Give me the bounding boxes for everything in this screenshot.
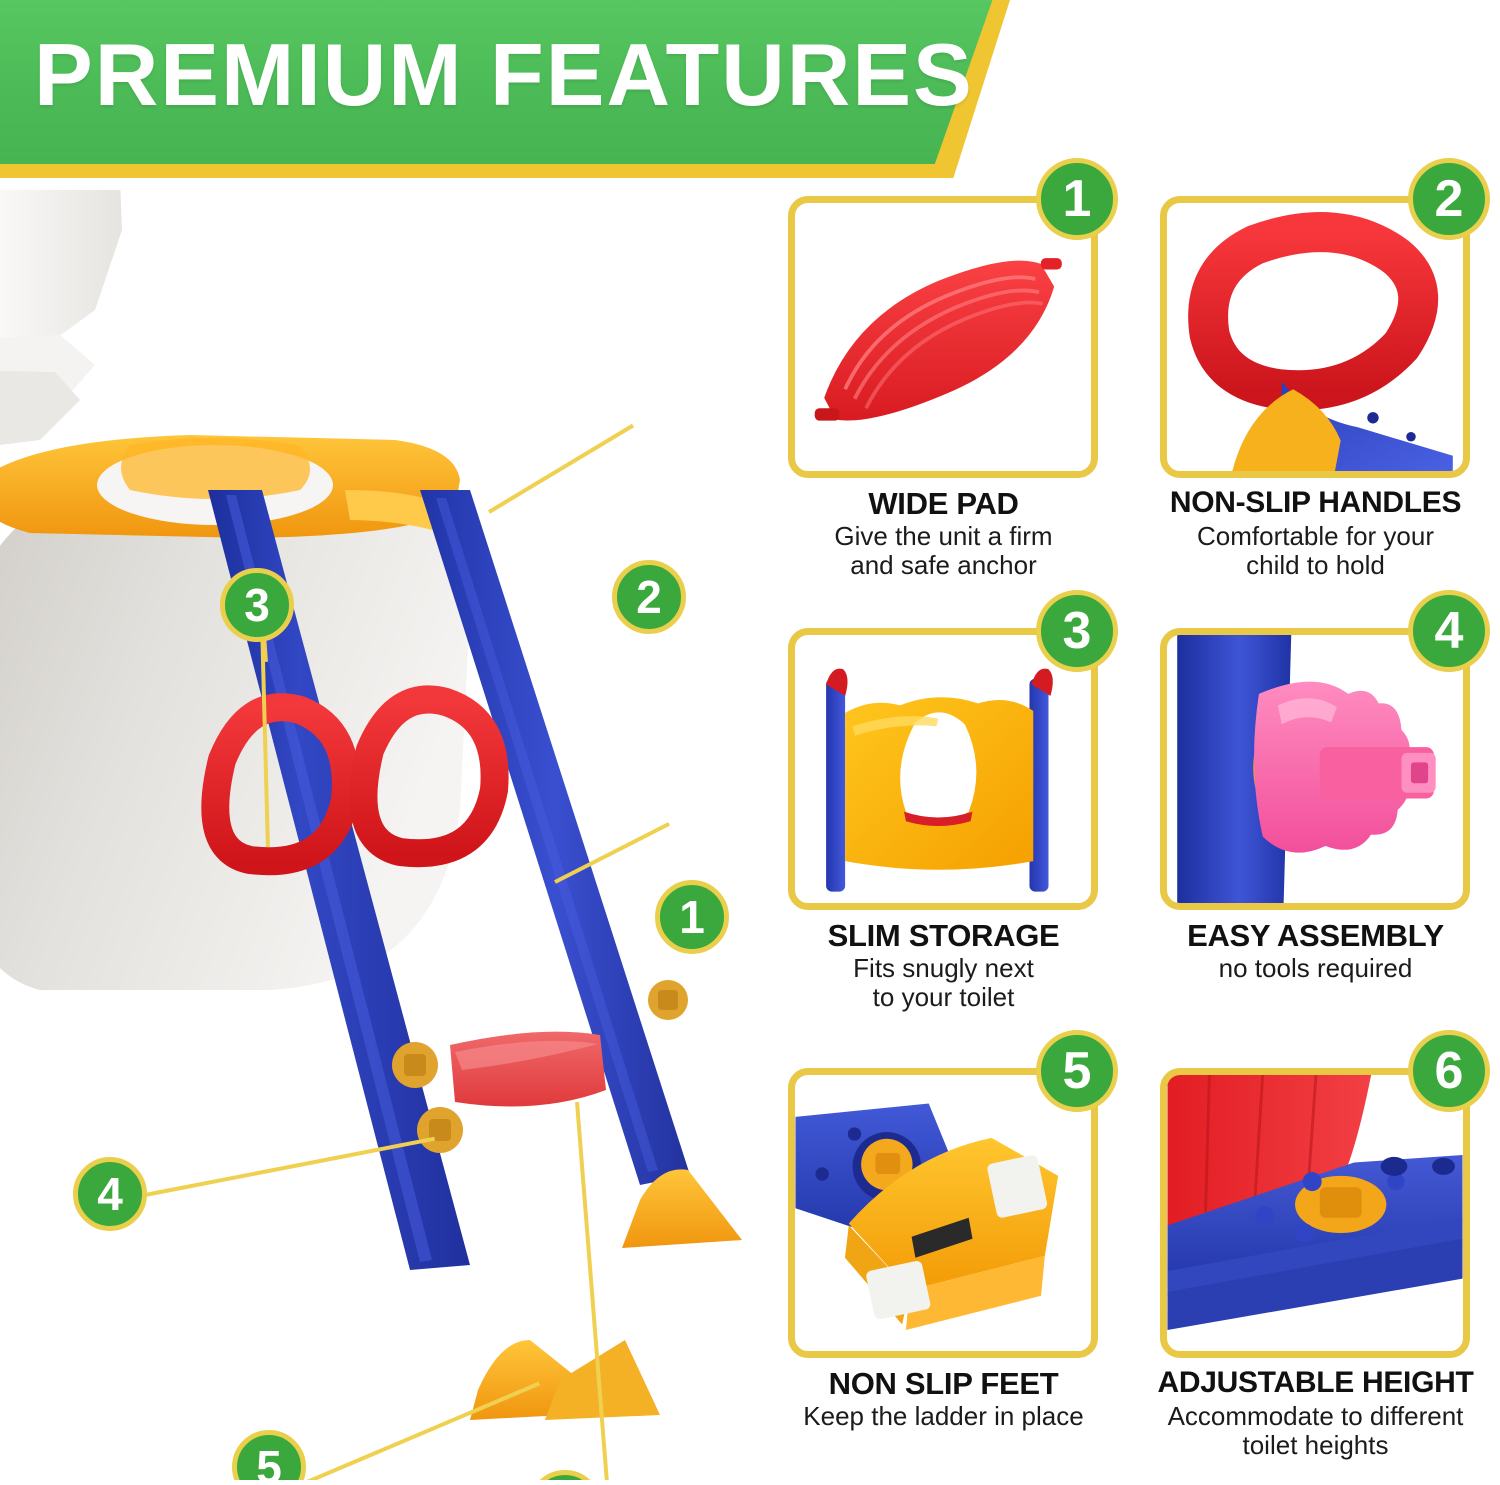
- feature-6-title: ADJUSTABLE HEIGHT: [1138, 1366, 1493, 1400]
- feature-4-subtitle: no tools required: [1138, 954, 1493, 983]
- feature-3-title: SLIM STORAGE: [766, 918, 1121, 954]
- feature-1-number: 1: [1063, 173, 1092, 225]
- non-slip-feet-image: [795, 1075, 1091, 1351]
- feature-5-title: NON SLIP FEET: [766, 1366, 1121, 1402]
- feature-4-title: EASY ASSEMBLY: [1138, 918, 1493, 954]
- callout-3-label: 3: [244, 582, 270, 628]
- page-title: PREMIUM FEATURES: [34, 31, 974, 119]
- callout-4-label: 4: [97, 1171, 123, 1217]
- feature-1-number-badge: 1: [1036, 158, 1118, 240]
- features-grid: 1 WIDE PAD Give the unit a firm and safe…: [766, 170, 1500, 1485]
- callout-1-label: 1: [679, 894, 705, 940]
- feature-5-image-frame: [788, 1068, 1098, 1358]
- feature-card-non-slip-feet: 5 NON SLIP FEET Keep the ladder in place: [766, 1042, 1121, 1474]
- feature-1-image-frame: [788, 196, 1098, 478]
- feature-6-number: 6: [1435, 1045, 1464, 1097]
- feature-3-number: 3: [1063, 605, 1092, 657]
- feature-2-number: 2: [1435, 173, 1464, 225]
- feature-card-slim-storage: 3 SLIM STORAGE Fits snugly next to your …: [766, 602, 1121, 1034]
- callout-badge-1: 1: [655, 880, 729, 954]
- easy-assembly-image: [1167, 635, 1463, 903]
- feature-3-subtitle: Fits snugly next to your toilet: [766, 954, 1121, 1012]
- feature-2-image-frame: [1160, 196, 1470, 478]
- wide-pad-image: [795, 203, 1091, 471]
- callout-badge-2: 2: [612, 560, 686, 634]
- feature-6-subtitle: Accommodate to different toilet heights: [1138, 1402, 1493, 1460]
- callout-badge-3: 3: [220, 568, 294, 642]
- non-slip-handles-image: [1167, 203, 1463, 471]
- feature-6-image-frame: [1160, 1068, 1470, 1358]
- feature-card-wide-pad: 1 WIDE PAD Give the unit a firm and safe…: [766, 170, 1121, 602]
- feature-1-title: WIDE PAD: [766, 486, 1121, 522]
- product-photo: 3 2 1 4 5 6: [0, 190, 760, 1480]
- feature-5-number-badge: 5: [1036, 1030, 1118, 1112]
- feature-5-number: 5: [1063, 1045, 1092, 1097]
- feature-4-number-badge: 4: [1408, 590, 1490, 672]
- feature-2-number-badge: 2: [1408, 158, 1490, 240]
- feature-4-number: 4: [1435, 605, 1464, 657]
- feature-2-subtitle: Comfortable for your child to hold: [1138, 522, 1493, 580]
- callout-2-label: 2: [636, 574, 662, 620]
- premium-features-infographic: PREMIUM FEATURES: [0, 0, 1500, 1485]
- callout-badge-4: 4: [73, 1157, 147, 1231]
- feature-card-easy-assembly: 4 EASY ASSEMBLY no tools required: [1138, 602, 1493, 1034]
- callout-5-label: 5: [256, 1444, 282, 1480]
- feature-4-image-frame: [1160, 628, 1470, 910]
- ladder-step: [450, 1032, 606, 1107]
- feature-5-subtitle: Keep the ladder in place: [766, 1402, 1121, 1431]
- feature-3-number-badge: 3: [1036, 590, 1118, 672]
- toilet-tank: [0, 190, 122, 450]
- feature-2-title: NON-SLIP HANDLES: [1138, 486, 1493, 520]
- adjustable-height-image: [1167, 1075, 1463, 1351]
- feature-3-image-frame: [788, 628, 1098, 910]
- slim-storage-image: [795, 635, 1091, 903]
- ladder-feet: [470, 1169, 742, 1420]
- header-banner: PREMIUM FEATURES: [0, 0, 1010, 178]
- feature-6-number-badge: 6: [1408, 1030, 1490, 1112]
- feature-card-non-slip-handles: 2 NON-SLIP HANDLES Comfortable for your …: [1138, 170, 1493, 602]
- feature-card-adjustable-height: 6 ADJUSTABLE HEIGHT Accommodate to diffe…: [1138, 1042, 1493, 1474]
- feature-1-subtitle: Give the unit a firm and safe anchor: [766, 522, 1121, 580]
